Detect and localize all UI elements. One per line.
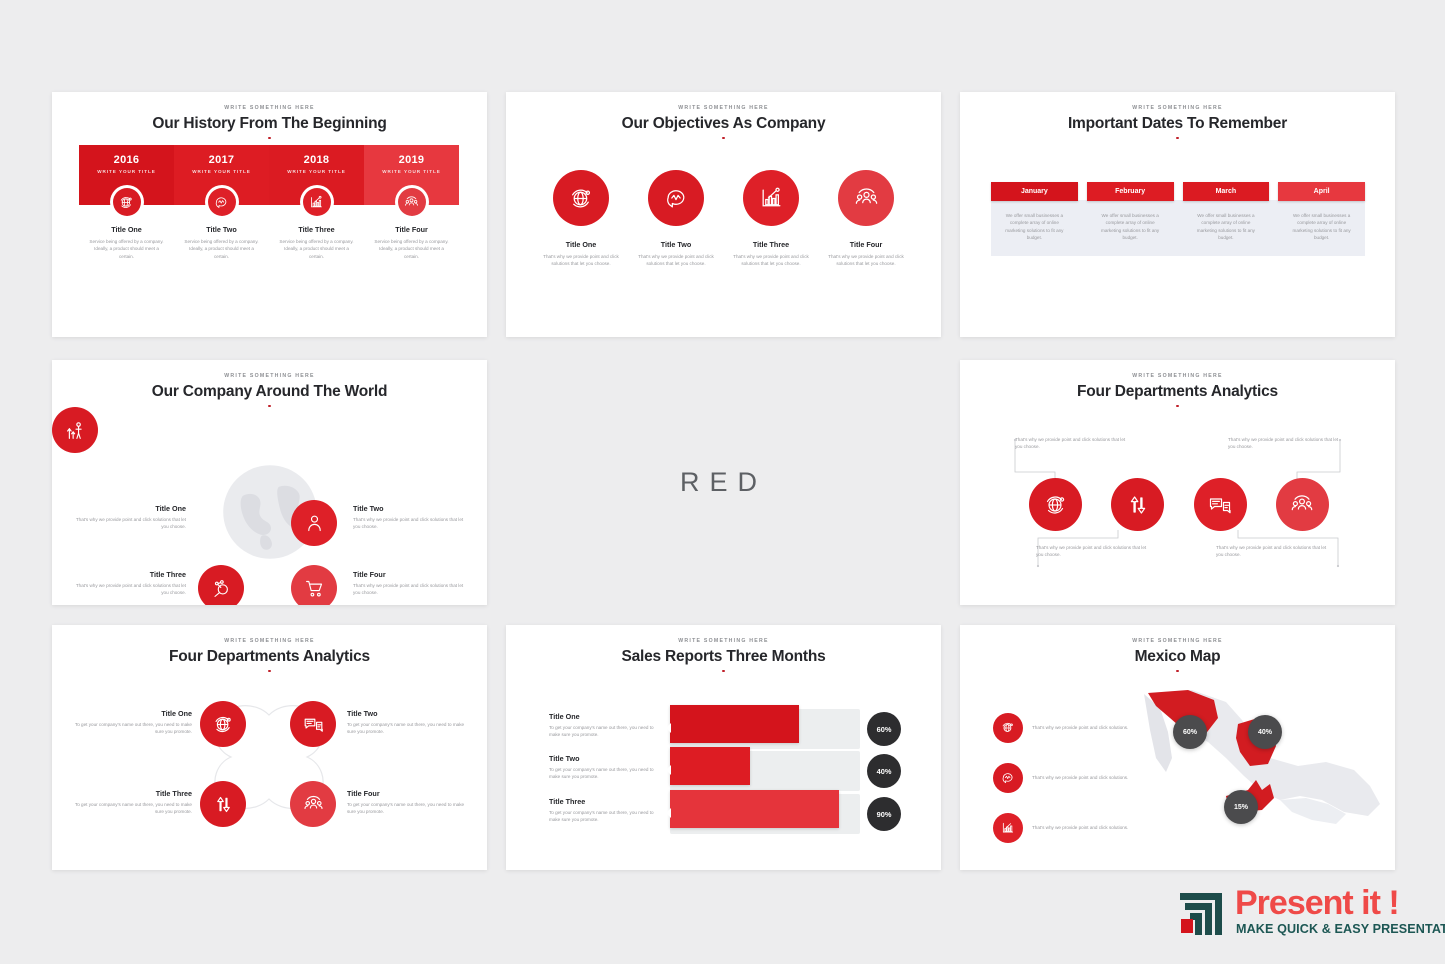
icon-ring <box>395 185 429 219</box>
item-text: To get your company's name out there, yo… <box>72 801 192 816</box>
department-note: That's why we provide point and click so… <box>1036 544 1154 559</box>
bar-label: Title One To get your company's name out… <box>549 712 659 739</box>
item-title: Title Three <box>269 225 364 234</box>
item-text: That's why we provide point and click so… <box>74 582 186 597</box>
department-note: That's why we provide point and click so… <box>1228 436 1346 451</box>
item-title: Title Two <box>549 754 659 763</box>
department-note: That's why we provide point and click so… <box>1015 436 1133 451</box>
item-title: Title One <box>72 709 192 718</box>
timeline-item[interactable]: Title Four Service being offered by a co… <box>364 185 459 260</box>
bar-label: Title Three To get your company's name o… <box>549 797 659 824</box>
present-it-logo: Present it ! MAKE QUICK & EASY PRESENTAT… <box>1178 886 1434 948</box>
item-text: To get your company's name out there, yo… <box>72 721 192 736</box>
timeline-year: 2019 <box>399 154 425 166</box>
item-title: Title Three <box>728 240 814 249</box>
people-group-icon <box>838 170 894 226</box>
legend-text: That's why we provide point and click so… <box>1032 774 1128 781</box>
slide-eyebrow: WRITE SOMETHING HERE <box>960 638 1395 644</box>
item-title: Title One <box>79 225 174 234</box>
slide-mexico-map[interactable]: WRITE SOMETHING HERE Mexico Map That's w… <box>960 625 1395 870</box>
item-title: Title Four <box>823 240 909 249</box>
people-group-icon[interactable] <box>290 781 336 827</box>
item-title: Title Three <box>74 570 186 579</box>
table-column-header[interactable]: April <box>1278 182 1365 201</box>
department-item[interactable]: Title One To get your company's name out… <box>72 709 192 736</box>
world-item[interactable]: Title One That's why we provide point an… <box>74 504 186 531</box>
department-item[interactable]: Title Two To get your company's name out… <box>347 709 467 736</box>
search-gear-icon[interactable] <box>198 565 244 605</box>
bar-chart-key-icon <box>303 188 331 216</box>
slide-header: WRITE SOMETHING HERE Our History From Th… <box>52 92 487 139</box>
item-title: Title Four <box>364 225 459 234</box>
item-text: To get your company's name out there, yo… <box>549 724 659 739</box>
table-column-header[interactable]: January <box>991 182 1078 201</box>
department-item[interactable]: Title Three To get your company's name o… <box>72 789 192 816</box>
item-text: To get your company's name out there, yo… <box>549 766 659 781</box>
timeline-item[interactable]: Title One Service being offered by a com… <box>79 185 174 260</box>
timeline-year-subtitle: WRITE YOUR TITLE <box>287 169 346 174</box>
title-dot-icon <box>1176 137 1179 140</box>
bar-track <box>670 751 860 791</box>
map-percent-pin[interactable]: 60% <box>1173 715 1207 749</box>
item-text: Service being offered by a company. Idea… <box>364 238 459 260</box>
slide-header: WRITE SOMETHING HERE Four Departments An… <box>52 625 487 672</box>
objective-item[interactable]: Title Three That's why we provide point … <box>728 170 814 268</box>
item-text: That's why we provide point and click so… <box>728 253 814 268</box>
bar-track <box>670 794 860 834</box>
globe-target-icon[interactable] <box>1029 478 1082 531</box>
slide-eyebrow: WRITE SOMETHING HERE <box>506 638 941 644</box>
chat-pulse-icon <box>648 170 704 226</box>
slide-red-divider: RED <box>506 360 941 605</box>
item-text: That's why we provide point and click so… <box>353 582 465 597</box>
item-title: Title Four <box>353 570 465 579</box>
growth-person-icon[interactable] <box>52 407 98 453</box>
arrows-updown-icon[interactable] <box>200 781 246 827</box>
bar-notch-icon <box>666 723 671 733</box>
item-text: That's why we provide point and click so… <box>74 516 186 531</box>
departments-circles <box>1029 478 1329 531</box>
title-dot-icon <box>268 137 271 140</box>
mexico-map-graphic <box>1130 680 1385 860</box>
table-cell: We offer small businesses a complete arr… <box>1087 212 1174 242</box>
table-header-row: January February March April <box>991 182 1365 201</box>
timeline-year-subtitle: WRITE YOUR TITLE <box>382 169 441 174</box>
logo-wordmark: Present it ! <box>1235 884 1399 923</box>
item-text: That's why we provide point and click so… <box>823 253 909 268</box>
icon-ring <box>300 185 334 219</box>
bar-track <box>670 709 860 749</box>
percent-badge: 40% <box>867 754 901 788</box>
arrows-updown-icon[interactable] <box>1111 478 1164 531</box>
page-title: Four Departments Analytics <box>52 648 487 666</box>
legend-text: That's why we provide point and click so… <box>1032 824 1128 831</box>
map-percent-pin[interactable]: 15% <box>1224 790 1258 824</box>
slide-header: WRITE SOMETHING HERE Important Dates To … <box>960 92 1395 139</box>
bar-fill <box>670 747 750 785</box>
nested-corner-brackets-icon <box>1178 889 1228 939</box>
bar-chart-key-icon <box>743 170 799 226</box>
item-text: That's why we provide point and click so… <box>353 516 465 531</box>
people-group-icon <box>398 188 426 216</box>
table-column-header[interactable]: March <box>1183 182 1270 201</box>
slide-sales-reports[interactable]: WRITE SOMETHING HERE Sales Reports Three… <box>506 625 941 870</box>
slide-header: WRITE SOMETHING HERE Mexico Map <box>960 625 1395 672</box>
world-item[interactable]: Title Two That's why we provide point an… <box>353 504 465 531</box>
item-text: Service being offered by a company. Idea… <box>269 238 364 260</box>
objectives-row: Title One That's why we provide point an… <box>538 170 909 268</box>
page-title: Important Dates To Remember <box>960 115 1395 133</box>
objective-item[interactable]: Title One That's why we provide point an… <box>538 170 624 268</box>
presentation-template-preview-sheet: WRITE SOMETHING HERE Our History From Th… <box>0 0 1445 964</box>
page-title: Sales Reports Three Months <box>506 648 941 666</box>
title-dot-icon <box>722 670 725 673</box>
item-title: Title Four <box>347 789 467 798</box>
item-title: Title Two <box>174 225 269 234</box>
bar-label: Title Two To get your company's name out… <box>549 754 659 781</box>
world-item[interactable]: Title Three That's why we provide point … <box>74 570 186 597</box>
item-title: Title One <box>549 712 659 721</box>
item-title: Title Two <box>633 240 719 249</box>
department-note: That's why we provide point and click so… <box>1216 544 1334 559</box>
slide-header: WRITE SOMETHING HERE Our Company Around … <box>52 360 487 407</box>
title-dot-icon <box>268 670 271 673</box>
slide-four-departments-connector[interactable]: WRITE SOMETHING HERE Four Departments An… <box>960 360 1395 605</box>
bar-notch-icon <box>666 765 671 775</box>
timeline-year-subtitle: WRITE YOUR TITLE <box>192 169 251 174</box>
percent-badge: 90% <box>867 797 901 831</box>
legend-text: That's why we provide point and click so… <box>1032 724 1128 731</box>
item-text: That's why we provide point and click so… <box>538 253 624 268</box>
globe-target-icon <box>553 170 609 226</box>
timeline-item[interactable]: Title Two Service being offered by a com… <box>174 185 269 260</box>
item-text: To get your company's name out there, yo… <box>347 721 467 736</box>
item-text: Service being offered by a company. Idea… <box>174 238 269 260</box>
timeline-year: 2018 <box>304 154 330 166</box>
slide-four-departments-petal[interactable]: WRITE SOMETHING HERE Four Departments An… <box>52 625 487 870</box>
globe-target-icon[interactable] <box>200 701 246 747</box>
item-title: Title Three <box>549 797 659 806</box>
bar-fill <box>670 705 799 743</box>
title-dot-icon <box>1176 670 1179 673</box>
cart-icon[interactable] <box>291 565 337 605</box>
globe-target-icon <box>113 188 141 216</box>
slide-eyebrow: WRITE SOMETHING HERE <box>506 105 941 111</box>
world-item[interactable]: Title Four That's why we provide point a… <box>353 570 465 597</box>
icon-ring <box>110 185 144 219</box>
slide-eyebrow: WRITE SOMETHING HERE <box>52 105 487 111</box>
objective-item[interactable]: Title Two That's why we provide point an… <box>633 170 719 268</box>
map-percent-pin[interactable]: 40% <box>1248 715 1282 749</box>
timeline-year: 2016 <box>114 154 140 166</box>
icon-ring <box>205 185 239 219</box>
timeline-item[interactable]: Title Three Service being offered by a c… <box>269 185 364 260</box>
item-title: Title Two <box>347 709 467 718</box>
item-title: Title One <box>538 240 624 249</box>
table-column-header[interactable]: February <box>1087 182 1174 201</box>
globe-target-icon <box>993 713 1023 743</box>
chat-bubbles-icon[interactable] <box>290 701 336 747</box>
item-text: That's why we provide point and click so… <box>633 253 719 268</box>
red-wordmark: RED <box>506 360 941 605</box>
slide-header: WRITE SOMETHING HERE Sales Reports Three… <box>506 625 941 672</box>
logo-tagline: MAKE QUICK & EASY PRESENTATIONS <box>1236 922 1445 936</box>
table-row: We offer small businesses a complete arr… <box>991 200 1365 256</box>
slide-our-objectives[interactable]: WRITE SOMETHING HERE Our Objectives As C… <box>506 92 941 337</box>
slide-company-around-world[interactable]: WRITE SOMETHING HERE Our Company Around … <box>52 360 487 605</box>
item-title: Title Three <box>72 789 192 798</box>
percent-badge: 60% <box>867 712 901 746</box>
page-title: Our Objectives As Company <box>506 115 941 133</box>
bar-chart-key-icon <box>993 813 1023 843</box>
title-dot-icon <box>722 137 725 140</box>
bar-row[interactable]: Title Two To get your company's name out… <box>549 751 909 795</box>
slide-our-history[interactable]: WRITE SOMETHING HERE Our History From Th… <box>52 92 487 337</box>
slide-eyebrow: WRITE SOMETHING HERE <box>52 638 487 644</box>
timeline-year-subtitle: WRITE YOUR TITLE <box>97 169 156 174</box>
page-title: Our Company Around The World <box>52 383 487 401</box>
item-text: Service being offered by a company. Idea… <box>79 238 174 260</box>
bar-notch-icon <box>666 808 671 818</box>
item-text: To get your company's name out there, yo… <box>347 801 467 816</box>
item-title: Title Two <box>353 504 465 513</box>
title-dot-icon <box>268 405 271 408</box>
slide-eyebrow: WRITE SOMETHING HERE <box>960 105 1395 111</box>
timeline-year: 2017 <box>209 154 235 166</box>
dates-table: January February March April We offer sm… <box>991 182 1365 256</box>
table-cell: We offer small businesses a complete arr… <box>991 212 1078 242</box>
table-cell: We offer small businesses a complete arr… <box>1278 212 1365 242</box>
chat-bubbles-icon[interactable] <box>1194 478 1247 531</box>
chat-pulse-icon <box>993 763 1023 793</box>
bar-row[interactable]: Title Three To get your company's name o… <box>549 794 909 838</box>
people-group-icon[interactable] <box>1276 478 1329 531</box>
slide-eyebrow: WRITE SOMETHING HERE <box>52 373 487 379</box>
slide-important-dates[interactable]: WRITE SOMETHING HERE Important Dates To … <box>960 92 1395 337</box>
department-item[interactable]: Title Four To get your company's name ou… <box>347 789 467 816</box>
chat-pulse-icon <box>208 188 236 216</box>
page-title: Mexico Map <box>960 648 1395 666</box>
slide-header: WRITE SOMETHING HERE Our Objectives As C… <box>506 92 941 139</box>
page-title: Our History From The Beginning <box>52 115 487 133</box>
bar-fill <box>670 790 839 828</box>
item-title: Title One <box>74 504 186 513</box>
table-cell: We offer small businesses a complete arr… <box>1183 212 1270 242</box>
objective-item[interactable]: Title Four That's why we provide point a… <box>823 170 909 268</box>
user-icon[interactable] <box>291 500 337 546</box>
item-text: To get your company's name out there, yo… <box>549 809 659 824</box>
